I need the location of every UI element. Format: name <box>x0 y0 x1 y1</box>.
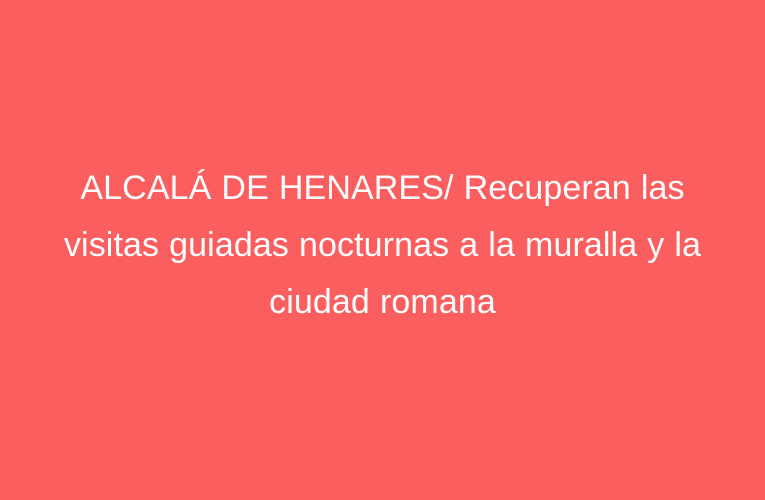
article-hero-card: ALCALÁ DE HENARES/ Recuperan las visitas… <box>0 0 765 500</box>
hero-bottom-spacer <box>0 331 765 500</box>
hero-title-container: ALCALÁ DE HENARES/ Recuperan las visitas… <box>0 160 765 331</box>
hero-top-spacer <box>0 0 765 160</box>
page-title: ALCALÁ DE HENARES/ Recuperan las visitas… <box>50 160 715 331</box>
